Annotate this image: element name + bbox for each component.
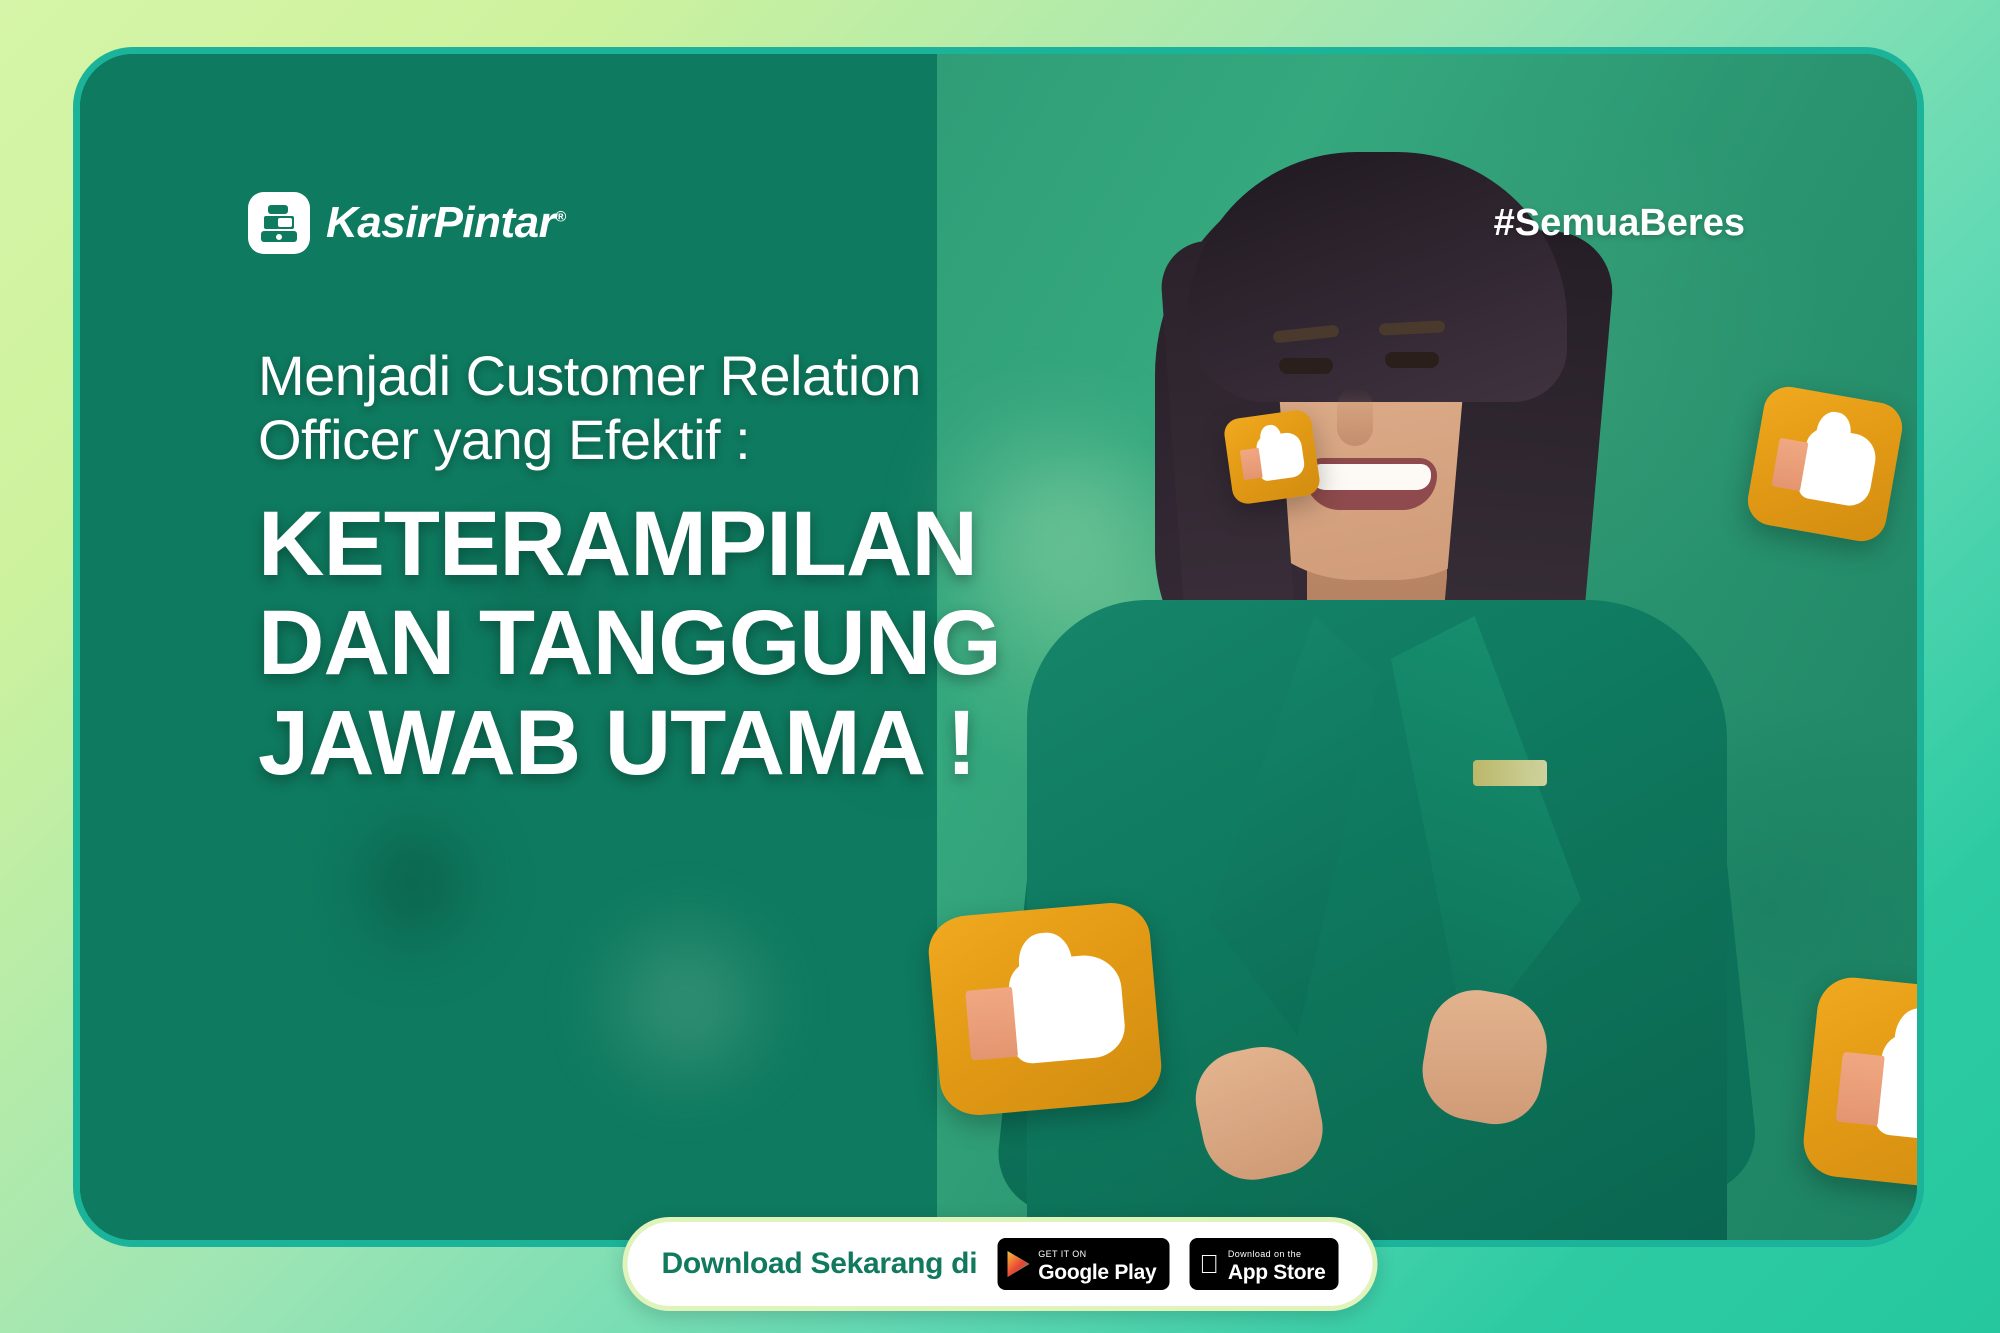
- apple-icon: : [1199, 1251, 1219, 1277]
- title-line-2: DAN TANGGUNG: [258, 594, 1001, 693]
- title-line-3: JAWAB UTAMA !: [258, 694, 1001, 793]
- google-play-icon: [1007, 1251, 1029, 1277]
- presenter-eye-right: [1385, 352, 1439, 368]
- google-play-small-label: GET IT ON: [1038, 1249, 1086, 1259]
- app-store-small-label: Download on the: [1228, 1249, 1302, 1259]
- title-line-1: KETERAMPILAN: [258, 495, 1001, 594]
- title-block: KETERAMPILAN DAN TANGGUNG JAWAB UTAMA !: [258, 495, 1001, 793]
- presenter-teeth: [1311, 464, 1431, 490]
- brand-logo[interactable]: KasirPintar®: [248, 192, 566, 254]
- headline-block: Menjadi Customer Relation Officer yang E…: [258, 344, 1001, 793]
- brand-name: KasirPintar®: [326, 198, 566, 248]
- download-label: Download Sekarang di: [662, 1247, 978, 1281]
- thumbs-up-icon: [1800, 974, 1924, 1194]
- trademark-symbol: ®: [555, 208, 566, 225]
- app-store-button[interactable]:  Download on the App Store: [1189, 1238, 1338, 1290]
- presenter-eye-left: [1279, 358, 1333, 374]
- google-play-button[interactable]: GET IT ON Google Play: [997, 1238, 1169, 1290]
- subtitle-line-2: Officer yang Efektif :: [258, 408, 1001, 472]
- thumbs-up-icon: [1222, 408, 1321, 505]
- cash-register-icon: [248, 192, 310, 254]
- presenter-mouth: [1305, 458, 1437, 510]
- app-store-label: App Store: [1228, 1261, 1326, 1284]
- thumbs-up-icon: [1744, 383, 1906, 545]
- presenter-hair-front: [1187, 152, 1567, 402]
- presenter-nose: [1337, 388, 1373, 446]
- download-bar: Download Sekarang di GET IT ON Google Pl…: [623, 1217, 1378, 1311]
- google-play-label: Google Play: [1038, 1261, 1156, 1284]
- subtitle-line-1: Menjadi Customer Relation: [258, 344, 1001, 408]
- thumbs-up-icon: [926, 900, 1165, 1119]
- promo-banner-card: KasirPintar® #SemuaBeres Menjadi Custome…: [73, 47, 1924, 1247]
- hashtag-label: #SemuaBeres: [1494, 202, 1745, 245]
- presenter-name-badge: [1473, 760, 1547, 786]
- brand-name-text: KasirPintar: [326, 198, 555, 247]
